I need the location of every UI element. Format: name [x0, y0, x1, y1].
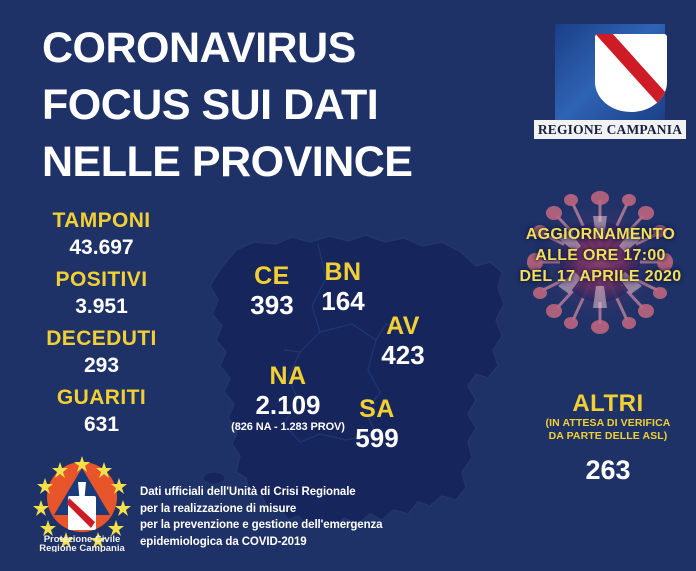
footer-line-3: per la prevenzione e gestione dell'emerg… — [140, 517, 470, 534]
province-label-av: AV 423 — [362, 312, 444, 370]
province-label-sa: SA 599 — [338, 395, 416, 453]
altri-value: 263 — [520, 454, 696, 486]
shield-red-band — [595, 34, 667, 112]
stat-value-deceduti: 293 — [14, 352, 189, 380]
stat-value-tamponi: 43.697 — [14, 234, 189, 262]
update-notice: AGGIORNAMENTO ALLE ORE 17:00 DEL 17 APRI… — [505, 186, 696, 338]
footer-line-1: Dati ufficiali dell'Unità di Crisi Regio… — [140, 484, 470, 501]
province-code-sa: SA — [338, 395, 416, 423]
footer-line-4: epidemiologica da COVID-2019 — [140, 534, 470, 551]
infographic-poster: CORONAVIRUS FOCUS SUI DATI NELLE PROVINC… — [0, 0, 696, 571]
altri-note-line-2: DA PARTE DELLE ASL) — [520, 430, 696, 443]
protezione-civile-icon: Protezione Civile Regione Campania — [28, 452, 136, 552]
update-line-1: AGGIORNAMENTO — [505, 224, 696, 245]
altri-note-line-1: (IN ATTESA DI VERIFICA — [520, 417, 696, 430]
regione-campania-label: REGIONE CAMPANIA — [538, 122, 682, 138]
title-line-2: FOCUS SUI DATI — [42, 77, 512, 134]
altri-title: ALTRI — [520, 390, 696, 417]
pc-label-line-2: Regione Campania — [39, 543, 125, 552]
statistics-panel: TAMPONI 43.697 POSITIVI 3.951 DECEDUTI 2… — [14, 208, 189, 444]
province-value-ce: 393 — [232, 290, 312, 320]
province-label-na: NA 2.109 (826 NA - 1.283 PROV) — [218, 362, 358, 434]
footer-credits: Dati ufficiali dell'Unità di Crisi Regio… — [140, 484, 470, 550]
stat-label-guariti: GUARITI — [14, 385, 189, 411]
province-code-bn: BN — [306, 258, 380, 286]
province-value-na: 2.109 — [218, 390, 358, 420]
province-label-ce: CE 393 — [232, 262, 312, 320]
altri-block: ALTRI (IN ATTESA DI VERIFICA DA PARTE DE… — [520, 390, 696, 486]
stat-label-positivi: POSITIVI — [14, 267, 189, 293]
title-line-3: NELLE PROVINCE — [42, 134, 512, 191]
title-line-1: CORONAVIRUS — [42, 20, 512, 77]
footer-line-2: per la realizzazione di misure — [140, 501, 470, 518]
regione-campania-nameplate: REGIONE CAMPANIA — [534, 120, 686, 139]
page-title: CORONAVIRUS FOCUS SUI DATI NELLE PROVINC… — [42, 20, 512, 191]
province-value-sa: 599 — [338, 423, 416, 453]
province-label-bn: BN 164 — [306, 258, 380, 316]
campania-shield-icon — [595, 34, 667, 112]
update-line-3: DEL 17 APRILE 2020 — [505, 266, 696, 287]
province-code-av: AV — [362, 312, 444, 340]
province-code-na: NA — [218, 362, 358, 390]
update-notice-text: AGGIORNAMENTO ALLE ORE 17:00 DEL 17 APRI… — [505, 224, 696, 287]
stat-value-positivi: 3.951 — [14, 293, 189, 321]
province-value-av: 423 — [362, 340, 444, 370]
stat-label-deceduti: DECEDUTI — [14, 326, 189, 352]
update-line-2: ALLE ORE 17:00 — [505, 245, 696, 266]
logo-plate — [555, 24, 665, 122]
stat-label-tamponi: TAMPONI — [14, 208, 189, 234]
stat-value-guariti: 631 — [14, 411, 189, 439]
province-code-ce: CE — [232, 262, 312, 290]
province-breakdown-na: (826 NA - 1.283 PROV) — [218, 420, 358, 434]
regione-campania-logo: REGIONE CAMPANIA — [534, 24, 686, 142]
protezione-civile-logo: Protezione Civile Regione Campania — [28, 452, 136, 552]
